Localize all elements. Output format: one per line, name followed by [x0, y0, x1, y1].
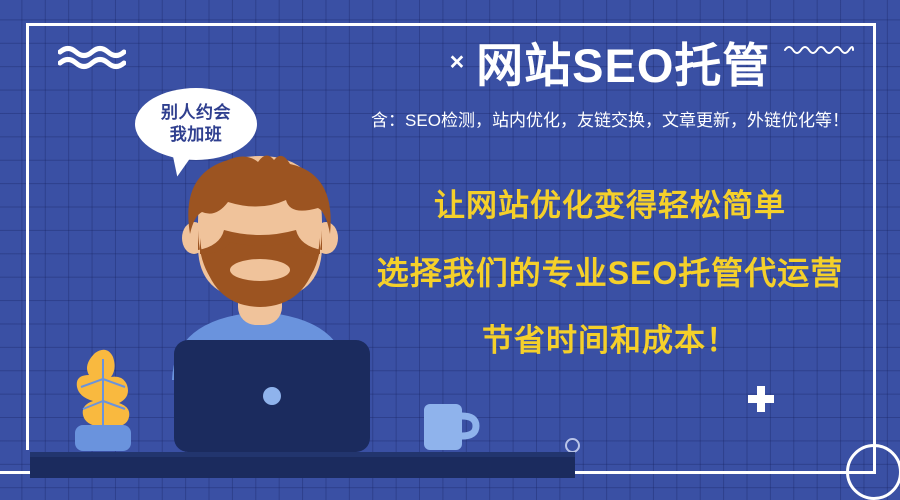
headline-block: × 网站SEO托管 含：SEO检测，站内优化，友链交换，文章更新，外链优化等！ — [330, 40, 890, 131]
slogan-line-1: 让网站优化变得轻松简单 — [330, 190, 890, 221]
slogan-line-2: 选择我们的专业SEO托管代运营 — [330, 257, 890, 289]
title-bullet-icon: × — [450, 50, 465, 81]
mug-handle — [462, 416, 476, 436]
plant-pot — [75, 425, 131, 451]
laptop-icon — [172, 338, 372, 463]
coffee-mug-icon — [420, 398, 482, 456]
person-mouth — [230, 259, 290, 281]
laptop-logo-dot — [263, 387, 281, 405]
page-title: 网站SEO托管 — [476, 40, 770, 92]
potted-plant-icon — [55, 345, 155, 455]
frame-left-line — [26, 23, 29, 450]
speech-bubble: 别人约会 我加班 — [135, 88, 257, 160]
frame-top-line — [26, 23, 876, 26]
speech-bubble-line-1: 别人约会 — [161, 102, 231, 124]
wave-lines-double-icon — [58, 44, 126, 70]
title-row: × 网站SEO托管 — [330, 40, 890, 92]
subtitle-text: 含：SEO检测，站内优化，友链交换，文章更新，外链优化等！ — [330, 106, 890, 131]
slogan-line-3: 节省时间和成本！ — [330, 325, 890, 356]
plus-mark-icon — [748, 386, 774, 412]
seo-hosting-banner: × 网站SEO托管 含：SEO检测，站内优化，友链交换，文章更新，外链优化等！ … — [0, 0, 900, 500]
slogan-block: 让网站优化变得轻松简单 选择我们的专业SEO托管代运营 节省时间和成本！ — [330, 190, 890, 356]
small-circle-icon — [565, 438, 580, 453]
speech-bubble-line-2: 我加班 — [170, 124, 223, 146]
mug-body — [424, 404, 462, 450]
corner-circle-icon — [846, 444, 900, 500]
